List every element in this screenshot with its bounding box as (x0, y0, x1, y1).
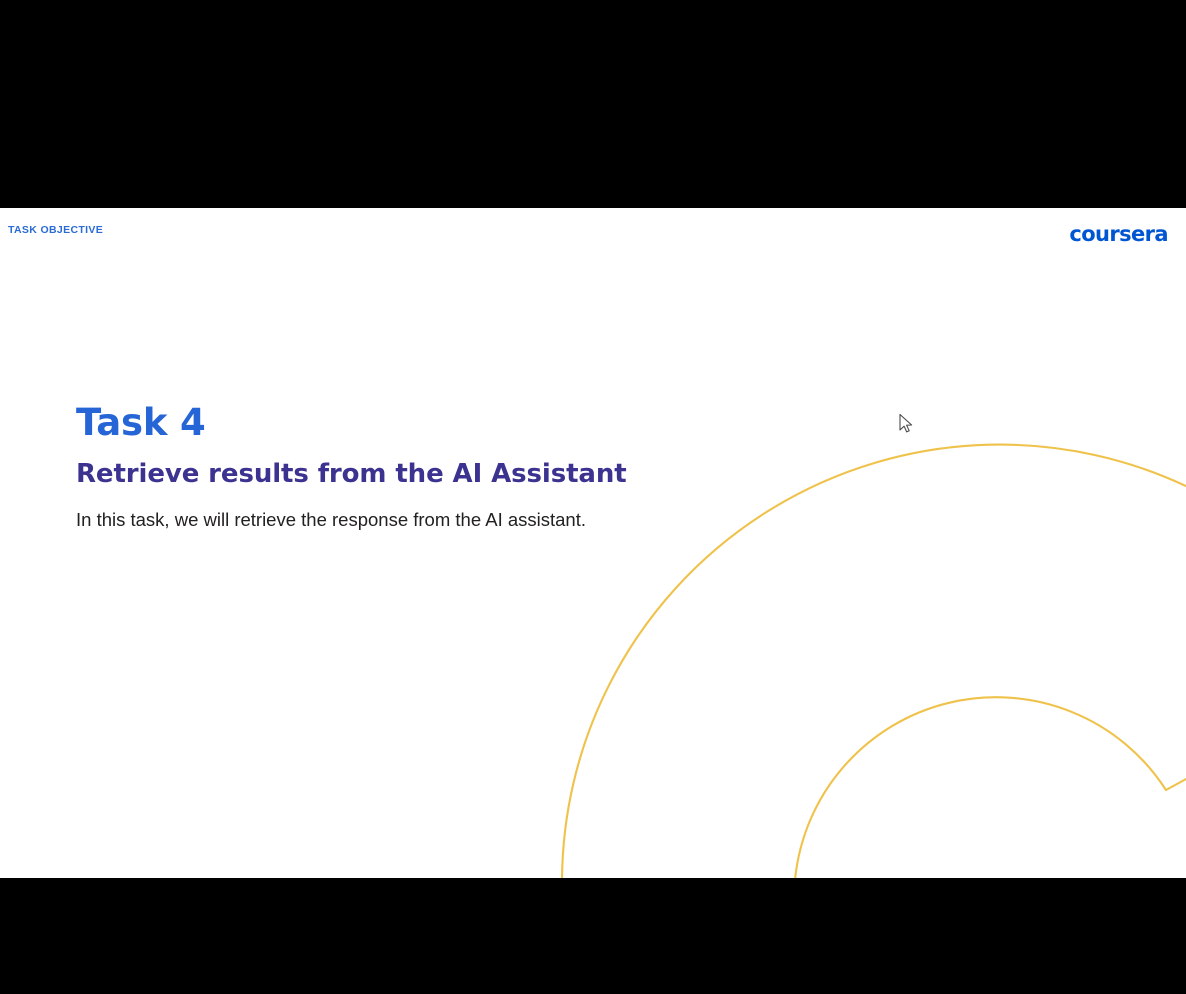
screen-canvas: TASK OBJECTIVE coursera Task 4 Retrieve … (0, 0, 1186, 994)
task-heading: Task 4 (76, 404, 836, 443)
arc-arrow-tip (1166, 778, 1186, 790)
decorative-arcs (0, 208, 1186, 878)
coursera-logo: coursera (1069, 222, 1168, 246)
task-description: In this task, we will retrieve the respo… (76, 508, 836, 532)
inner-yellow-arc (795, 697, 1166, 878)
letterbox-bar-top (0, 0, 1186, 208)
presentation-slide: TASK OBJECTIVE coursera Task 4 Retrieve … (0, 208, 1186, 878)
letterbox-bar-bottom (0, 878, 1186, 994)
task-subheading: Retrieve results from the AI Assistant (76, 459, 836, 490)
slide-text-block: Task 4 Retrieve results from the AI Assi… (76, 404, 836, 532)
task-objective-eyebrow: TASK OBJECTIVE (8, 224, 103, 236)
slide-header: TASK OBJECTIVE coursera (0, 208, 1186, 268)
